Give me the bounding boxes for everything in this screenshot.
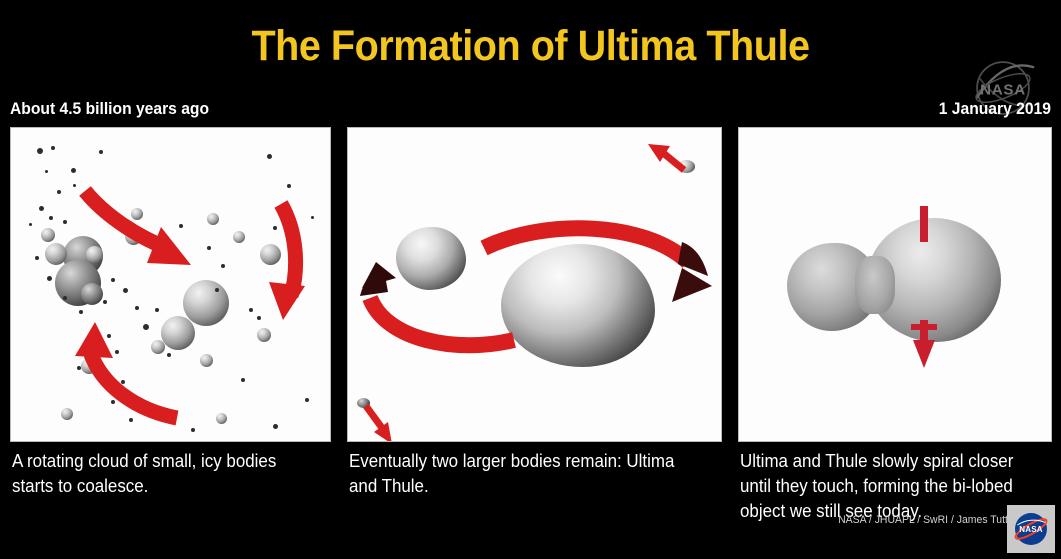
debris-speck	[191, 428, 195, 432]
debris-speck	[249, 308, 253, 312]
rotation-arrow-top	[73, 183, 203, 278]
debris-speck	[123, 288, 128, 293]
icy-body	[233, 231, 245, 243]
debris-speck	[39, 206, 44, 211]
escape-arrow-top-right	[646, 140, 690, 176]
era-label: About 4.5 billion years ago	[10, 99, 209, 119]
scene-two-orbiting-bodies	[348, 128, 721, 441]
debris-speck	[51, 146, 55, 150]
subtitle-row: About 4.5 billion years ago 1 January 20…	[0, 99, 1061, 123]
debris-speck	[103, 300, 107, 304]
scene-bi-lobed-contact-binary	[739, 128, 1051, 441]
rotation-arrow-bottom	[69, 318, 189, 428]
debris-speck	[35, 256, 39, 260]
caption-stage-2: Eventually two larger bodies remain: Ult…	[349, 449, 706, 499]
debris-speck	[207, 246, 211, 250]
icy-body	[207, 213, 219, 225]
lobe-neck	[855, 256, 895, 314]
icy-body	[81, 283, 103, 305]
debris-speck	[71, 168, 76, 173]
debris-speck	[305, 398, 309, 402]
debris-speck	[155, 308, 159, 312]
icy-body	[216, 413, 227, 424]
icy-body	[257, 328, 271, 342]
svg-text:NASA: NASA	[980, 81, 1026, 98]
debris-speck	[215, 288, 219, 292]
debris-speck	[287, 184, 291, 188]
escape-arrow-bottom-left	[362, 404, 402, 442]
date-label: 1 January 2019	[939, 99, 1051, 119]
caption-stage-1: A rotating cloud of small, icy bodies st…	[12, 449, 322, 499]
caption-stage-3: Ultima and Thule slowly spiral closer un…	[740, 449, 1041, 524]
debris-speck	[57, 190, 61, 194]
debris-speck	[79, 310, 83, 314]
debris-speck	[37, 148, 43, 154]
debris-speck	[221, 264, 225, 268]
panel-formation-stage-3	[738, 127, 1052, 442]
debris-speck	[267, 154, 272, 159]
orbit-arrow-lower	[356, 262, 521, 360]
debris-speck	[63, 296, 67, 300]
debris-speck	[111, 278, 115, 282]
panel-formation-stage-2	[347, 127, 722, 442]
debris-speck	[29, 223, 32, 226]
scene-rotating-debris-cloud	[11, 128, 330, 441]
page-title: The Formation of Ultima Thule	[42, 22, 1018, 71]
debris-speck	[45, 170, 48, 173]
icy-body	[200, 354, 213, 367]
debris-speck	[273, 424, 278, 429]
debris-speck	[241, 378, 245, 382]
debris-speck	[135, 306, 139, 310]
debris-speck	[63, 220, 67, 224]
debris-speck	[99, 150, 103, 154]
nasa-meatball-icon: NASA	[1011, 509, 1051, 549]
icy-body	[183, 280, 229, 326]
svg-text:NASA: NASA	[1019, 525, 1042, 534]
rotation-arrow-right	[259, 198, 319, 328]
rotation-axis-arrow	[905, 204, 945, 374]
debris-speck	[47, 276, 52, 281]
nasa-logo-badge: NASA	[1007, 505, 1055, 553]
icy-body	[45, 243, 67, 265]
icy-body	[41, 228, 55, 242]
debris-speck	[49, 216, 53, 220]
panel-formation-stage-1	[10, 127, 331, 442]
